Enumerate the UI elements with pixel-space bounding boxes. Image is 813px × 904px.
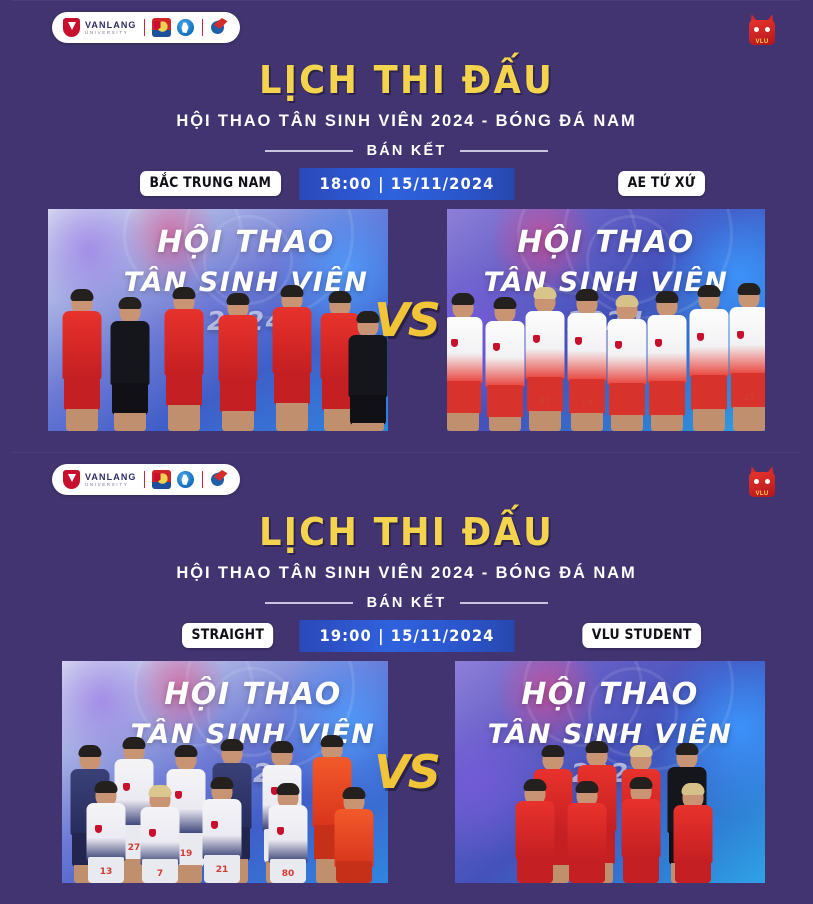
match-bar-1: BẮC TRUNG NAM 18:00 | 15/11/2024 AE TỨ X… bbox=[0, 168, 813, 202]
team-photo-left-1: HỘI THAO TÂN SINH VIÊN 2024 bbox=[48, 209, 388, 431]
backdrop-line1-right-1: HỘI THAO bbox=[447, 225, 765, 260]
backdrop-line1-right-2: HỘI THAO bbox=[455, 677, 765, 712]
sports-club-bird-icon bbox=[210, 470, 229, 489]
jersey-number: 19 bbox=[180, 849, 193, 859]
team-badge-right-2: VLU STUDENT bbox=[582, 623, 701, 648]
team-photo-right-2: HỘI THAO TÂN SINH VIÊN 2024 bbox=[455, 661, 765, 883]
page-title-2: LỊCH THI ĐẤU bbox=[28, 512, 784, 552]
match-photos-2: HỘI THAO TÂN SINH VIÊN 2024 27 bbox=[0, 661, 813, 883]
sports-club-bird-icon bbox=[210, 18, 229, 37]
team-badge-left-2: STRAIGHT bbox=[182, 623, 274, 648]
mascot-eye-left bbox=[754, 479, 759, 484]
vs-label-2: VS bbox=[374, 745, 439, 799]
brand-logo-pill-1: VANLANG UNIVERSITY bbox=[52, 12, 240, 43]
page-title-1: LỊCH THI ĐẤU bbox=[28, 60, 784, 100]
match-card-1: VANLANG UNIVERSITY VLU LỊCH THI ĐẤU HỘI … bbox=[0, 0, 813, 452]
jersey-number: 13 bbox=[100, 867, 113, 877]
vanlang-wordmark: VANLANG UNIVERSITY bbox=[85, 20, 137, 36]
mascot-eye-right bbox=[765, 479, 770, 484]
player-group-right-2 bbox=[455, 723, 765, 883]
backdrop-line1-left-1: HỘI THAO bbox=[76, 225, 388, 260]
page-subtitle-2: HỘI THAO TÂN SINH VIÊN 2024 - BÓNG ĐÁ NA… bbox=[0, 564, 813, 583]
university-sub: UNIVERSITY bbox=[85, 30, 137, 36]
round-line-right-1 bbox=[460, 150, 548, 152]
jersey-number: 80 bbox=[282, 869, 295, 879]
jersey-number: 7 bbox=[157, 869, 163, 879]
match-photos-1: HỘI THAO TÂN SINH VIÊN 2024 bbox=[0, 209, 813, 431]
vanlang-wordmark: VANLANG UNIVERSITY bbox=[85, 472, 137, 488]
vs-label-1: VS bbox=[374, 293, 439, 347]
team-photo-right-1: HỘI THAO TÂN SINH VIÊN 2024 bbox=[447, 209, 765, 431]
vlu-mascot-icon: VLU bbox=[747, 466, 777, 500]
jersey-number: 19 bbox=[581, 399, 594, 409]
match-time-badge-1: 18:00 | 15/11/2024 bbox=[299, 168, 515, 200]
round-line-right-2 bbox=[460, 602, 548, 604]
backdrop-line1-left-2: HỘI THAO bbox=[90, 677, 388, 712]
mascot-eye-left bbox=[754, 27, 759, 32]
match-bar-2: STRAIGHT 19:00 | 15/11/2024 VLU STUDENT bbox=[0, 620, 813, 654]
brand-logo-pill-2: VANLANG UNIVERSITY bbox=[52, 464, 240, 495]
jersey-number: 25 bbox=[743, 393, 756, 403]
university-name: VANLANG bbox=[85, 20, 137, 30]
vanlang-shield-icon bbox=[63, 470, 80, 489]
team-badge-right-1: AE TỨ XỨ bbox=[618, 171, 705, 196]
player-group-left-2: 27 19 bbox=[62, 723, 388, 883]
jersey-number: 21 bbox=[216, 865, 229, 875]
jersey-number: 27 bbox=[128, 843, 141, 853]
player-group-right-1: 27 19 bbox=[447, 271, 765, 431]
logo-divider-2 bbox=[202, 19, 203, 36]
logo-divider-1 bbox=[144, 19, 145, 36]
mascot-label: VLU bbox=[747, 491, 777, 497]
student-association-icon bbox=[176, 18, 195, 37]
youth-union-flag-icon bbox=[152, 470, 171, 489]
round-label-2: BÁN KẾT bbox=[367, 595, 447, 611]
card-2-top-row: VANLANG UNIVERSITY VLU bbox=[0, 452, 813, 510]
university-sub: UNIVERSITY bbox=[85, 482, 137, 488]
page-subtitle-1: HỘI THAO TÂN SINH VIÊN 2024 - BÓNG ĐÁ NA… bbox=[0, 112, 813, 131]
mascot-eye-right bbox=[765, 27, 770, 32]
vanlang-shield-icon bbox=[63, 18, 80, 37]
round-line-left-1 bbox=[265, 150, 353, 152]
student-association-icon bbox=[176, 470, 195, 489]
match-card-2: VANLANG UNIVERSITY VLU LỊCH THI ĐẤU HỘI … bbox=[0, 452, 813, 904]
university-name: VANLANG bbox=[85, 472, 137, 482]
round-line-left-2 bbox=[265, 602, 353, 604]
mascot-label: VLU bbox=[747, 39, 777, 45]
logo-divider-1 bbox=[144, 471, 145, 488]
team-photo-left-2: HỘI THAO TÂN SINH VIÊN 2024 27 bbox=[62, 661, 388, 883]
player-group-left-1 bbox=[48, 271, 388, 431]
round-label-wrap-1: BÁN KẾT bbox=[0, 143, 813, 159]
card-1-top-row: VANLANG UNIVERSITY VLU bbox=[0, 0, 813, 58]
round-label-wrap-2: BÁN KẾT bbox=[0, 595, 813, 611]
vlu-mascot-icon: VLU bbox=[747, 14, 777, 48]
youth-union-flag-icon bbox=[152, 18, 171, 37]
logo-divider-2 bbox=[202, 471, 203, 488]
jersey-number: 27 bbox=[539, 397, 552, 407]
match-time-badge-2: 19:00 | 15/11/2024 bbox=[299, 620, 515, 652]
team-badge-left-1: BẮC TRUNG NAM bbox=[140, 171, 281, 196]
round-label-1: BÁN KẾT bbox=[367, 143, 447, 159]
